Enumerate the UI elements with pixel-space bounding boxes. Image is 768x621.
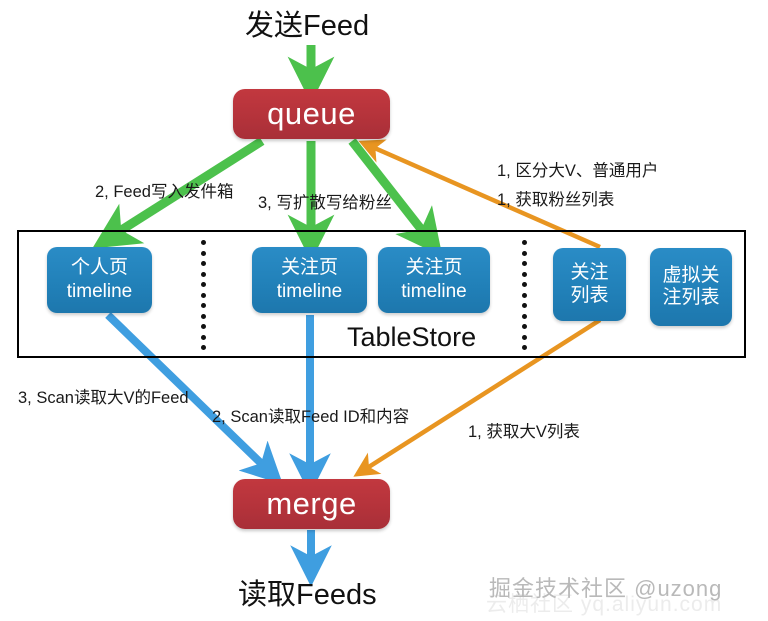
node-follow-list-line2: 列表 <box>570 285 608 307</box>
edge-label-get-bigv-list: 1, 获取大V列表 <box>468 418 580 442</box>
node-follow-list-line1: 关注 <box>570 262 608 284</box>
node-merge[interactable]: merge <box>233 479 390 529</box>
node-follow-timeline-2[interactable]: 关注页 timeline <box>378 247 490 313</box>
node-virtual-follow-list-line1: 虚拟关 <box>662 265 719 287</box>
node-follow-timeline-1-line2: timeline <box>277 281 342 303</box>
node-personal-timeline[interactable]: 个人页 timeline <box>47 247 152 313</box>
edge-label-get-fans-list: 1, 获取粉丝列表 <box>497 186 614 210</box>
diagram-canvas: TableStore 发送Feed queue 个人页 timeline 关注页… <box>0 0 768 621</box>
node-merge-label: merge <box>266 486 356 523</box>
watermark-author: 掘金技术社区 @uzong <box>489 571 722 603</box>
node-follow-timeline-1[interactable]: 关注页 timeline <box>252 247 367 313</box>
node-follow-list[interactable]: 关注 列表 <box>553 248 626 321</box>
node-virtual-follow-list[interactable]: 虚拟关 注列表 <box>650 248 732 326</box>
node-follow-timeline-1-line1: 关注页 <box>281 257 338 279</box>
node-queue[interactable]: queue <box>233 89 390 139</box>
node-personal-timeline-line2: timeline <box>67 281 132 303</box>
node-follow-timeline-2-line1: 关注页 <box>405 257 462 279</box>
edge-label-feed-write-outbox: 2, Feed写入发件箱 <box>95 178 233 202</box>
node-personal-timeline-line1: 个人页 <box>71 257 128 279</box>
node-virtual-follow-list-line2: 注列表 <box>662 287 719 309</box>
tablestore-label: TableStore <box>347 322 476 353</box>
node-follow-timeline-2-line2: timeline <box>401 281 466 303</box>
edge-label-scan-feed-id-content: 2, Scan读取Feed ID和内容 <box>212 403 409 427</box>
edge-label-distinguish-bigv: 1, 区分大V、普通用户 <box>497 157 658 181</box>
read-feeds-title: 读取Feeds <box>238 571 377 613</box>
edge-label-write-fanout-fans: 3, 写扩散写给粉丝 <box>258 189 392 213</box>
send-feed-title: 发送Feed <box>245 2 369 44</box>
node-queue-label: queue <box>267 96 356 133</box>
dotted-separator-right <box>522 240 527 350</box>
dotted-separator-left <box>201 240 206 350</box>
edge-label-scan-bigv-feed: 3, Scan读取大V的Feed <box>18 384 189 408</box>
